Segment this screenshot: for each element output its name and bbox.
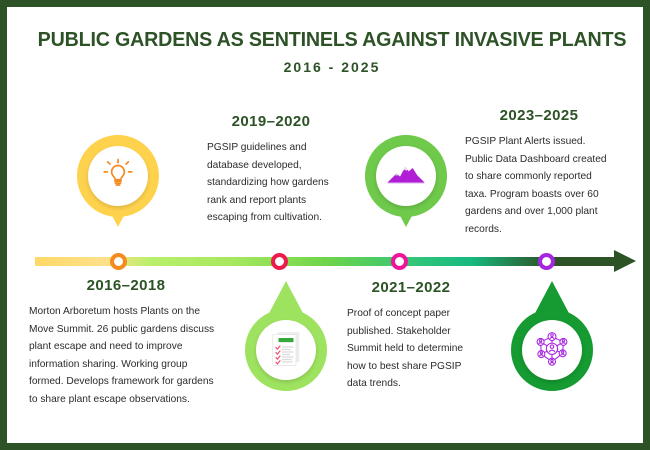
entry-body-text: PGSIP Plant Alerts issued. Public Data D… [465,133,613,238]
mountain-range-icon [386,161,426,192]
pin-2019-2020[interactable] [245,309,327,391]
pin-icon-well [522,320,582,380]
entry-period-label: 2021–2022 [347,279,475,296]
pin-icon-well [376,146,436,206]
network-people-icon [532,329,572,372]
page-title: PUBLIC GARDENS AS SENTINELS AGAINST INVA… [20,29,644,52]
header: PUBLIC GARDENS AS SENTINELS AGAINST INVA… [7,29,650,75]
checklist-document-icon [267,328,305,373]
timeline-node-2023-2025[interactable] [538,253,555,270]
timeline-node-2016-2018[interactable] [110,253,127,270]
entry-body-text: Proof of concept paper published. Stakeh… [347,305,475,393]
pin-2023-2025[interactable] [511,309,593,391]
page-subtitle: 2016 - 2025 [7,59,650,75]
infographic-canvas: PUBLIC GARDENS AS SENTINELS AGAINST INVA… [0,0,650,450]
entry-2016-2018: 2016–2018 Morton Arboretum hosts Plants … [29,277,223,408]
entry-body-text: Morton Arboretum hosts Plants on the Mov… [29,303,223,408]
entry-2023-2025: 2023–2025 PGSIP Plant Alerts issued. Pub… [465,107,613,238]
pin-icon-well [256,320,316,380]
entry-period-label: 2023–2025 [465,107,613,124]
lightbulb-icon [101,157,135,196]
pin-icon-well [88,146,148,206]
timeline-node-2019-2020[interactable] [271,253,288,270]
timeline-arrow-icon [614,250,636,272]
entry-period-label: 2016–2018 [29,277,223,294]
entry-body-text: PGSIP guidelines and database developed,… [207,139,335,227]
pin-2016-2018[interactable] [77,135,159,217]
entry-period-label: 2019–2020 [207,113,335,130]
timeline-node-2021-2022[interactable] [391,253,408,270]
pin-2021-2022[interactable] [365,135,447,217]
entry-2021-2022: 2021–2022 Proof of concept paper publish… [347,279,475,393]
entry-2019-2020: 2019–2020 PGSIP guidelines and database … [207,113,335,227]
